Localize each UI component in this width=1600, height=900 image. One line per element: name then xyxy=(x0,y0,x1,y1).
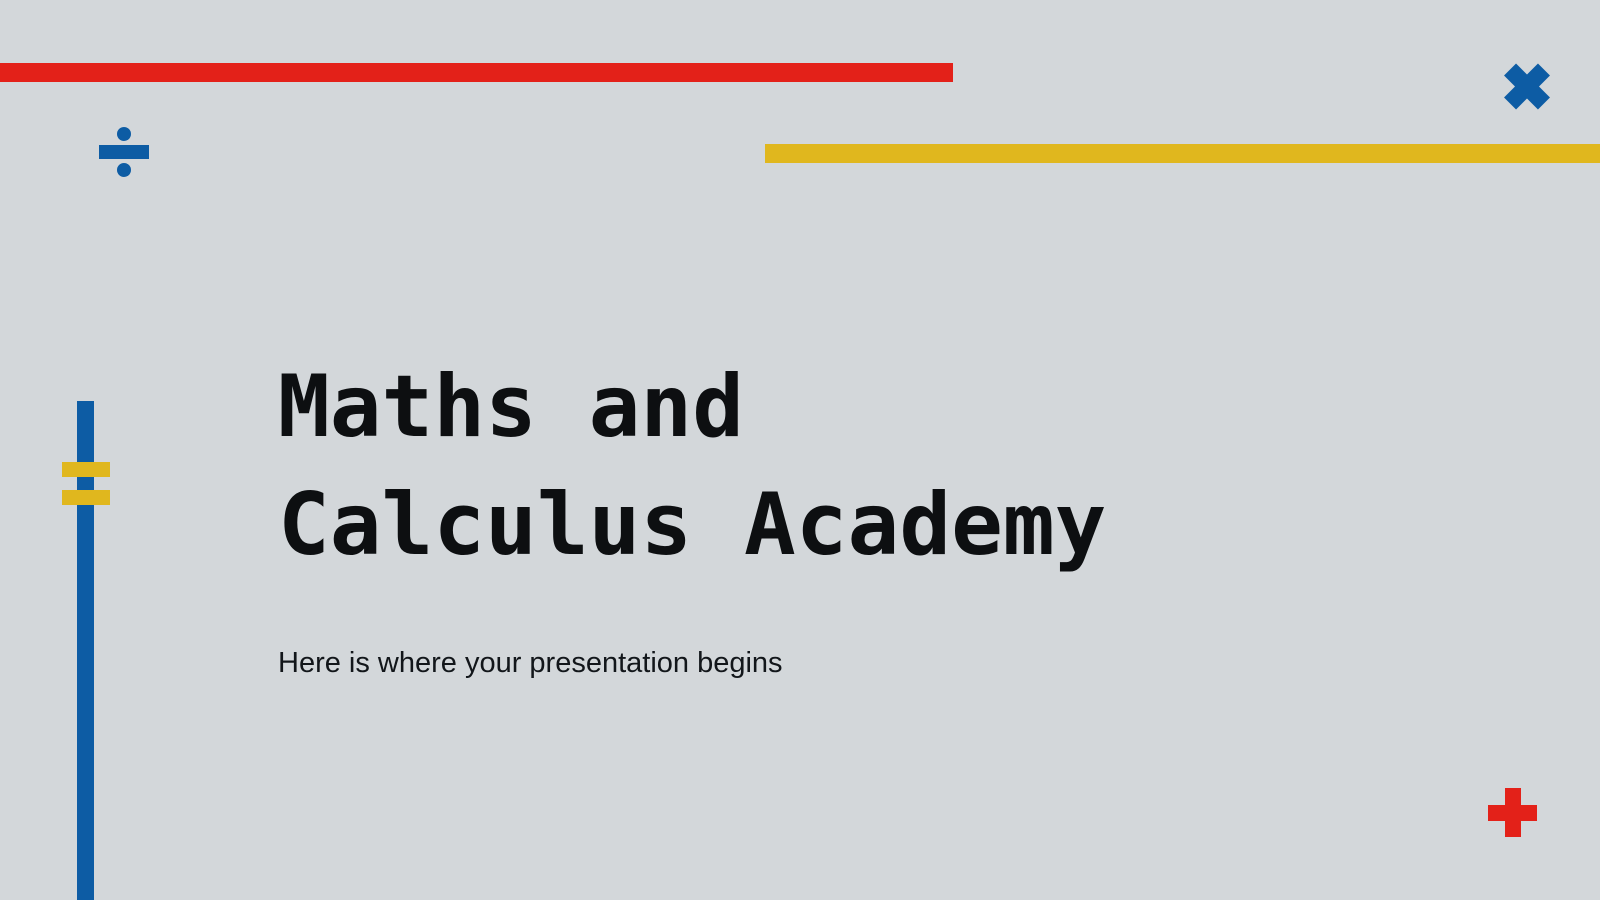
presentation-slide: Maths and Calculus Academy Here is where… xyxy=(0,0,1600,900)
equals-icon-stroke-bottom xyxy=(62,490,110,505)
slide-title-line-2: Calculus Academy xyxy=(278,466,1378,584)
slide-title-line-1: Maths and xyxy=(278,348,1378,466)
divide-icon-dot-bottom xyxy=(117,163,131,177)
yellow-horizontal-bar xyxy=(765,144,1600,163)
divide-icon xyxy=(99,127,149,177)
plus-icon xyxy=(1488,788,1537,837)
plus-icon-stroke-vertical xyxy=(1505,788,1521,837)
slide-subtitle: Here is where your presentation begins xyxy=(278,584,1378,680)
divide-icon-dot-top xyxy=(117,127,131,141)
equals-icon-stroke-top xyxy=(62,462,110,477)
equals-icon xyxy=(62,462,110,505)
title-text-block: Maths and Calculus Academy Here is where… xyxy=(278,348,1378,680)
red-horizontal-bar xyxy=(0,63,953,82)
multiply-icon xyxy=(1503,62,1551,110)
divide-icon-bar xyxy=(99,145,149,159)
